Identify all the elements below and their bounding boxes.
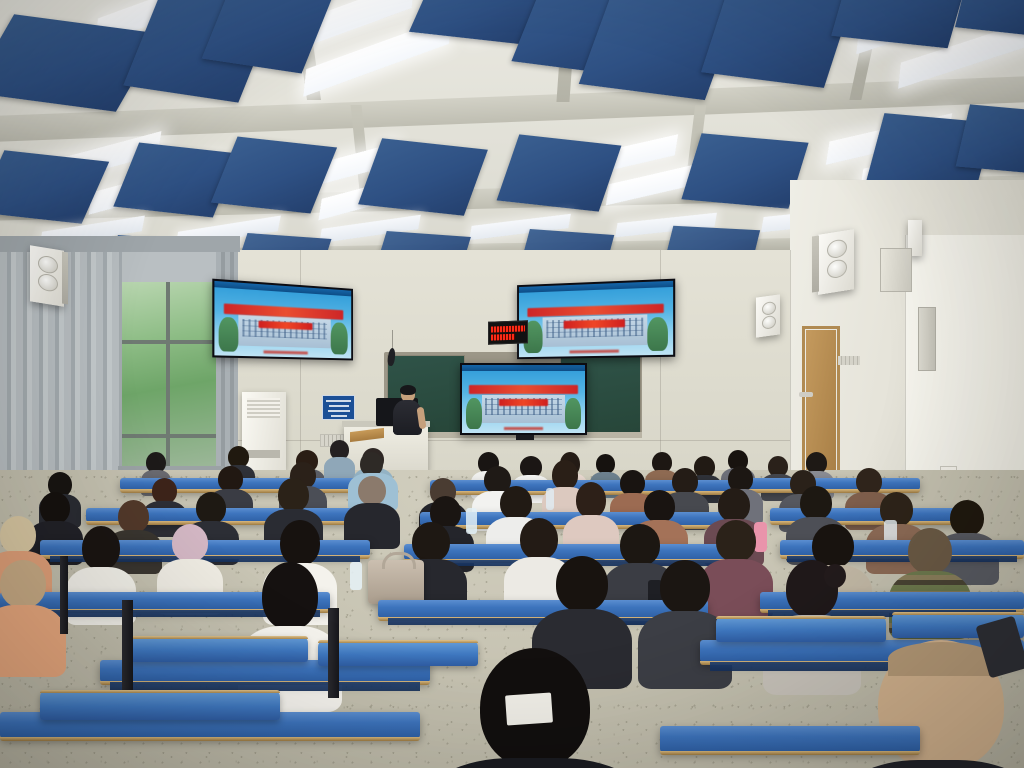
- slide-title-banner: [469, 385, 577, 394]
- water-bottle: [350, 562, 362, 590]
- desk-leg: [122, 600, 133, 696]
- slide-tree-left: [466, 398, 482, 429]
- ac-grille: [247, 398, 280, 418]
- lecture-desk: [660, 726, 920, 752]
- wall-seam: [790, 250, 791, 480]
- mic-cable: [392, 330, 393, 350]
- water-bottle: [546, 488, 554, 510]
- wall-switch-plate[interactable]: [838, 356, 860, 365]
- slide-tree-right: [647, 316, 668, 350]
- speaker-left-rear: [30, 245, 64, 306]
- desk-leg: [60, 556, 68, 634]
- slide-footer-text: [504, 427, 543, 430]
- left-wall-mounted-display[interactable]: [212, 279, 353, 361]
- classroom-info-sign: [322, 395, 355, 420]
- acoustic-panel: [497, 134, 622, 211]
- ac-vent: [247, 450, 280, 458]
- water-bottle: [466, 508, 477, 534]
- slide-tree-right: [331, 322, 347, 354]
- presenter-hair: [400, 385, 416, 395]
- slide-tree-right: [565, 398, 581, 429]
- front-lcd-display[interactable]: [460, 363, 587, 435]
- slide-tree-left: [219, 317, 238, 352]
- paper-sheet: [505, 692, 553, 725]
- slide-footer-text: [264, 350, 308, 355]
- display-stand: [516, 435, 534, 440]
- handbag-strap: [382, 552, 416, 569]
- speaker-right-front: [756, 294, 780, 337]
- wall-vent: [918, 307, 936, 371]
- door-handle[interactable]: [799, 392, 813, 397]
- presenter: [392, 387, 422, 435]
- pink-thermos: [754, 522, 767, 552]
- window-glass: [118, 282, 222, 472]
- speaker-side: [812, 235, 819, 292]
- seat-back: [40, 690, 280, 720]
- display-taskbar: [462, 365, 585, 371]
- slide-subtitle-banner: [499, 399, 548, 406]
- right-wall-mounted-display[interactable]: [517, 279, 675, 360]
- seat-back: [318, 640, 478, 666]
- slide-footer-text: [570, 349, 619, 353]
- slide-building: [238, 315, 331, 349]
- lecture-hall-photo: 深入贯彻中央八项规定精神学习教育 警示大会 Lecture hall meeti…: [0, 0, 1024, 768]
- speaker-side: [62, 252, 68, 305]
- seat-back: [716, 616, 886, 642]
- desk-leg: [328, 608, 339, 698]
- seat-back: [128, 636, 308, 662]
- lecture-desk: [740, 478, 920, 490]
- slide-subtitle-banner: [564, 319, 626, 329]
- led-ticker-display: [488, 320, 528, 344]
- speaker-right-rear: [818, 229, 854, 295]
- wall-control-box: [880, 248, 912, 292]
